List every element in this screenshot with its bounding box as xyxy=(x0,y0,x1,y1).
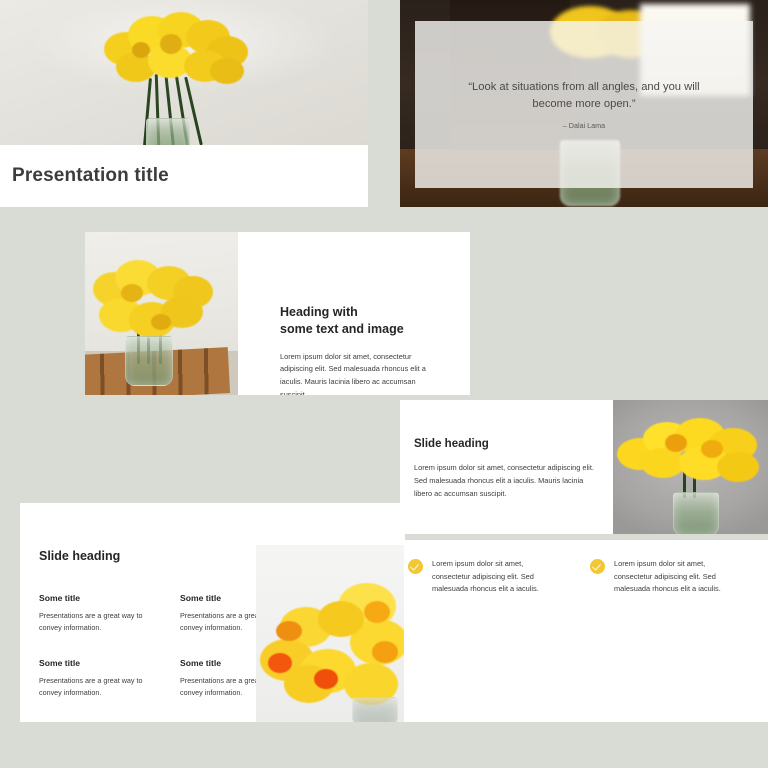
presentation-title: Presentation title xyxy=(0,165,169,187)
heading-slide-title-line1: Heading with xyxy=(280,305,358,319)
heading-slide-body: Heading with some text and image Lorem i… xyxy=(238,232,470,395)
presentation-template-board: Presentation title “Look at situations f… xyxy=(0,0,768,768)
slide-heading-body: Slide heading Lorem ipsum dolor sit amet… xyxy=(400,400,613,534)
quote-author: – Dalai Lama xyxy=(563,121,605,130)
heading-slide-title-line2: some text and image xyxy=(280,322,404,336)
checklist-item-text: Lorem ipsum dolor sit amet, consectetur … xyxy=(432,558,562,596)
checklist-slide: Lorem ipsum dolor sit amet, consectetur … xyxy=(400,540,768,722)
checklist-row: Lorem ipsum dolor sit amet, consectetur … xyxy=(400,540,768,596)
title-slide-image xyxy=(0,0,368,145)
slide-heading-image xyxy=(613,400,768,534)
quote-text: “Look at situations from all angles, and… xyxy=(459,79,709,112)
four-up-cell-title: Some title xyxy=(39,658,144,668)
slide-heading-title: Slide heading xyxy=(414,438,595,450)
checklist-item: Lorem ipsum dolor sit amet, consectetur … xyxy=(590,558,744,596)
four-up-cell-body: Presentations are a great way to convey … xyxy=(39,610,144,634)
heading-slide-title: Heading with some text and image xyxy=(280,304,440,338)
quote-overlay-panel: “Look at situations from all angles, and… xyxy=(415,21,753,188)
check-circle-icon xyxy=(408,559,423,574)
four-up-cell: Some title Presentations are a great way… xyxy=(39,658,144,699)
quote-slide: “Look at situations from all angles, and… xyxy=(400,0,768,207)
four-up-slide-image xyxy=(256,545,404,722)
heading-text-image-slide: Heading with some text and image Lorem i… xyxy=(85,232,470,395)
four-up-cell: Some title Presentations are a great way… xyxy=(39,593,144,634)
checklist-item: Lorem ipsum dolor sit amet, consectetur … xyxy=(408,558,562,596)
title-slide-bar: Presentation title xyxy=(0,145,368,207)
slide-heading-paragraph: Lorem ipsum dolor sit amet, consectetur … xyxy=(414,462,595,501)
four-up-cell-body: Presentations are a great way to convey … xyxy=(39,675,144,699)
check-circle-icon xyxy=(590,559,605,574)
four-up-cell-title: Some title xyxy=(39,593,144,603)
heading-slide-paragraph: Lorem ipsum dolor sit amet, consectetur … xyxy=(280,351,438,396)
checklist-item-text: Lorem ipsum dolor sit amet, consectetur … xyxy=(614,558,744,596)
slide-heading-image-slide: Slide heading Lorem ipsum dolor sit amet… xyxy=(400,400,768,534)
heading-slide-image xyxy=(85,232,238,395)
